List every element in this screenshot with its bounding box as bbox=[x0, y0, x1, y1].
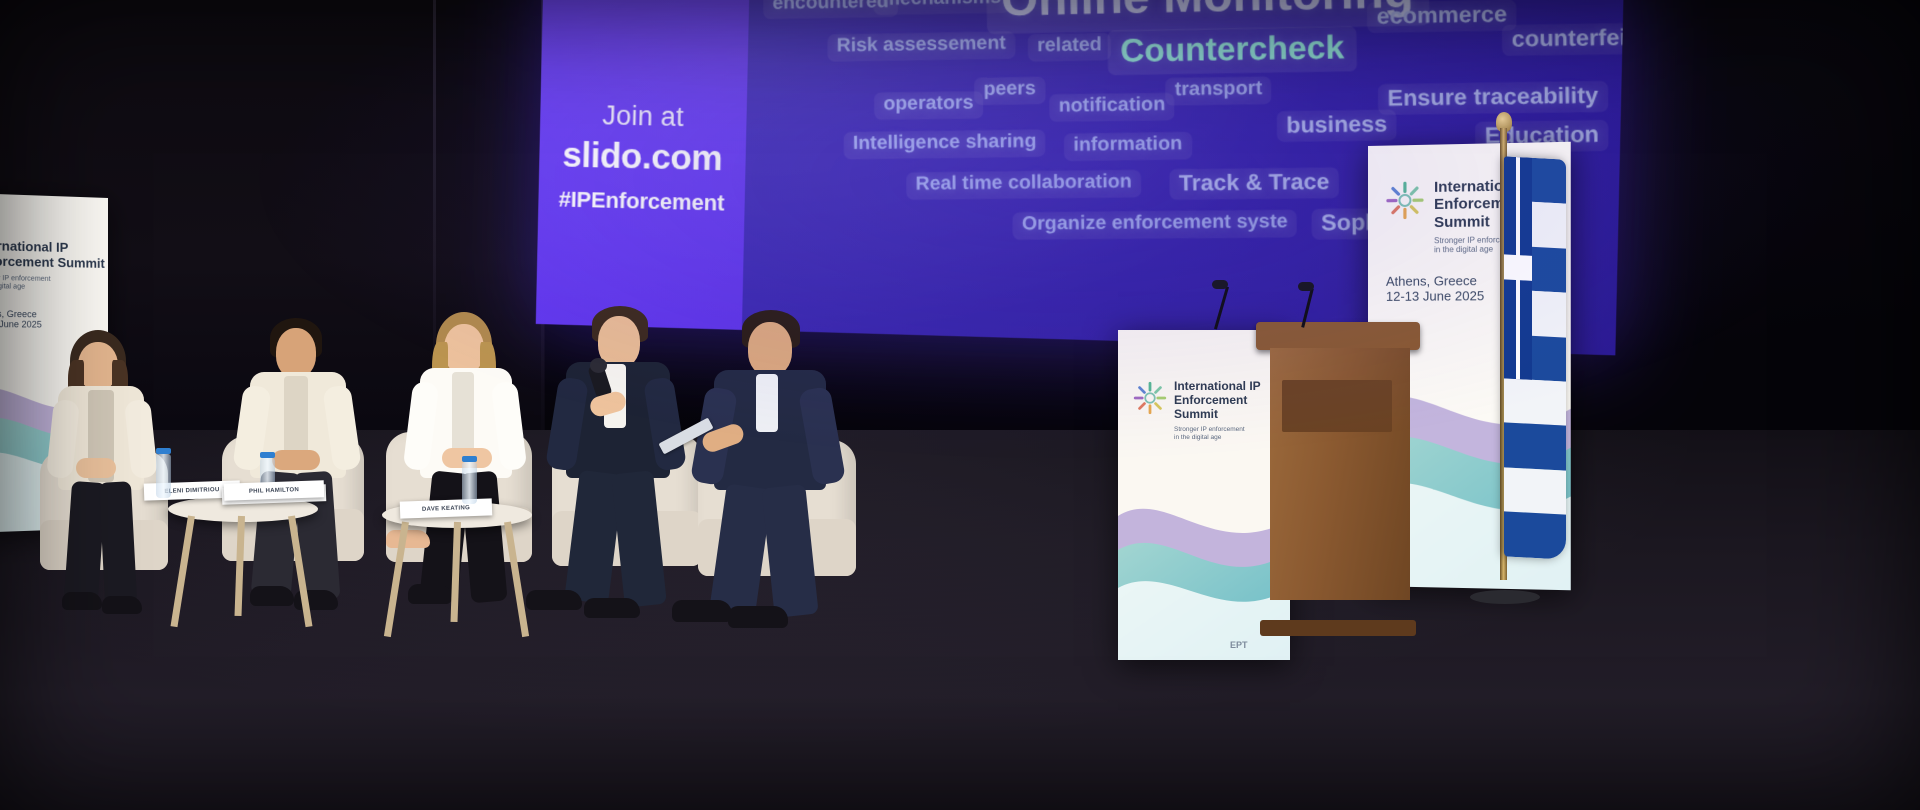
side-table-2: PHIL HAMILTON DAVE KEATING bbox=[382, 502, 532, 642]
summit-logo-icon bbox=[1382, 177, 1428, 224]
banner-lectern-broadcaster: EPT bbox=[1230, 640, 1248, 650]
cloud-word: transport bbox=[1165, 76, 1272, 105]
cloud-word: business bbox=[1277, 110, 1397, 142]
banner-left-city: Athens, Greece bbox=[0, 308, 42, 319]
cloud-word: notification bbox=[1049, 93, 1175, 122]
lectern-microphone-2-head bbox=[1298, 282, 1314, 291]
flag-base bbox=[1470, 590, 1540, 604]
greek-flag bbox=[1452, 128, 1568, 598]
banner-left-dates: 12-13 June 2025 bbox=[0, 319, 42, 330]
cloud-word: counterfeit bbox=[1502, 23, 1625, 56]
cloud-word: Organize enforcement syste bbox=[1012, 210, 1297, 240]
water-bottle bbox=[156, 454, 171, 498]
cloud-word: Countercheck bbox=[1107, 26, 1357, 75]
water-bottle bbox=[462, 462, 477, 504]
nameplate-4-text: DAVE KEATING bbox=[422, 505, 470, 513]
cloud-word: information bbox=[1064, 132, 1192, 161]
cloud-word: peers bbox=[974, 77, 1045, 105]
cloud-word: Real time collaboration bbox=[906, 170, 1141, 200]
microphone-head bbox=[590, 358, 607, 373]
nameplate-4: DAVE KEATING bbox=[400, 498, 493, 518]
panellist-5 bbox=[690, 310, 880, 670]
nameplate-1-text: ELENI DIMITRIOU bbox=[164, 487, 219, 495]
nameplate-3: PHIL HAMILTON bbox=[224, 480, 325, 500]
slido-url: slido.com bbox=[562, 135, 723, 179]
banner-left-title: International IP Enforcement Summit bbox=[0, 238, 105, 271]
cloud-word: operators bbox=[874, 91, 983, 119]
cloud-word: Risk assessement bbox=[827, 31, 1015, 61]
cloud-word: Intelligence sharing bbox=[844, 129, 1046, 158]
slido-hashtag: #IPEnforcement bbox=[558, 186, 724, 216]
slido-join-panel: Join at slido.com #IPEnforcement bbox=[536, 0, 751, 330]
stage-scene: Join at slido.com #IPEnforcement KYCQual… bbox=[0, 0, 1920, 810]
lectern bbox=[1264, 322, 1412, 622]
banner-left-subtitle: Stronger IP enforcement in the digital a… bbox=[0, 274, 105, 293]
summit-logo-icon bbox=[1130, 378, 1170, 418]
cloud-word: Track & Trace bbox=[1169, 167, 1339, 199]
slido-join-label: Join at bbox=[602, 100, 684, 133]
cloud-word: ecommerce bbox=[1367, 0, 1517, 33]
cloud-word: Ensure traceability bbox=[1378, 81, 1608, 115]
lectern-microphone-1-head bbox=[1212, 280, 1228, 289]
flag-cloth bbox=[1504, 156, 1566, 559]
side-table-1: ELENI DIMITRIOU EMMANUEL TALAS bbox=[168, 496, 318, 636]
cloud-word: related bbox=[1028, 33, 1112, 61]
nameplate-3-text: PHIL HAMILTON bbox=[249, 487, 299, 495]
